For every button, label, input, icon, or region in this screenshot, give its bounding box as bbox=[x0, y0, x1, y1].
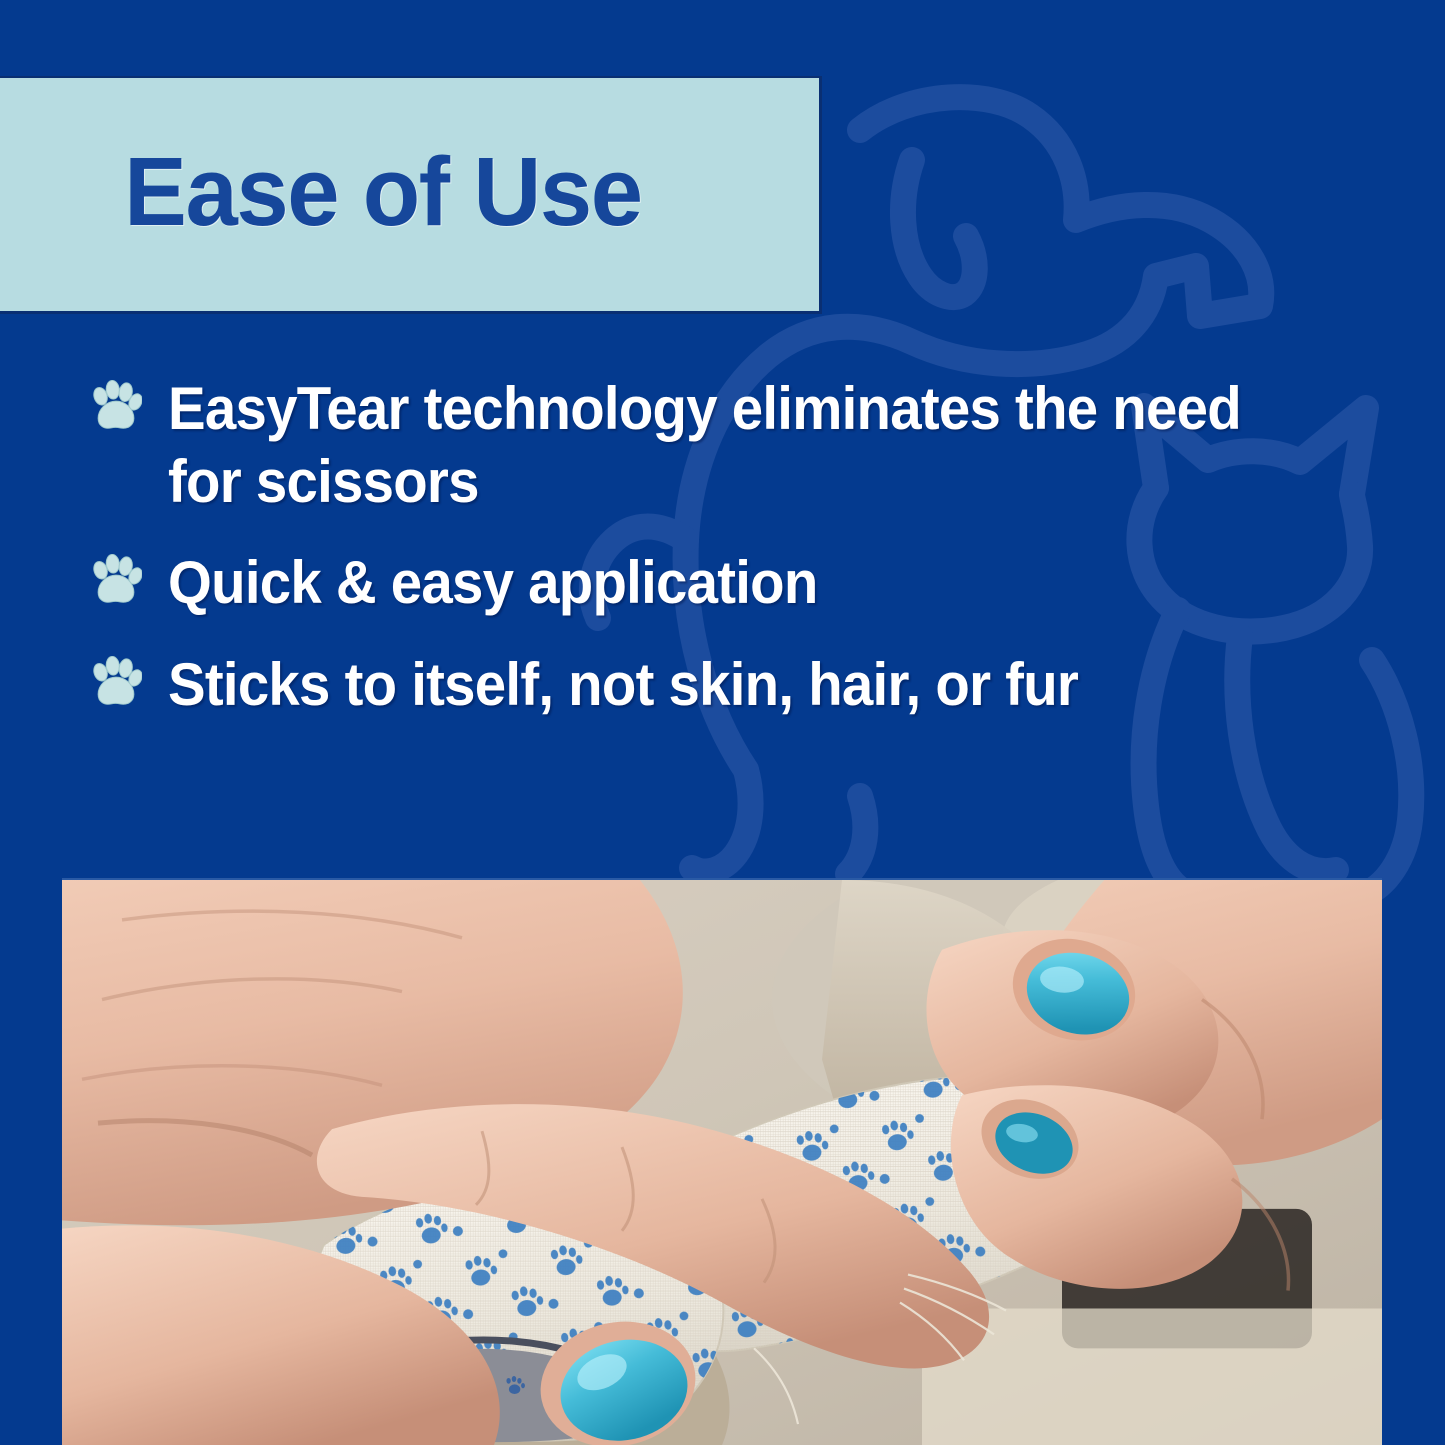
paw-print-icon bbox=[90, 380, 142, 432]
page-title: Ease of Use bbox=[0, 143, 642, 246]
feature-list: EasyTear technology eliminates the need … bbox=[90, 372, 1390, 749]
list-item-label: Sticks to itself, not skin, hair, or fur bbox=[168, 648, 1078, 721]
hands-tearing-paw-print-bandage-photo bbox=[62, 878, 1382, 1445]
infographic-canvas: Ease of Use EasyTear technology eliminat… bbox=[0, 0, 1445, 1445]
list-item: Quick & easy application bbox=[90, 546, 1390, 619]
list-item: Sticks to itself, not skin, hair, or fur bbox=[90, 648, 1390, 721]
header-banner: Ease of Use bbox=[0, 76, 822, 314]
paw-print-icon bbox=[90, 554, 142, 606]
list-item-label: Quick & easy application bbox=[168, 546, 818, 619]
paw-print-icon bbox=[90, 656, 142, 708]
list-item-label: EasyTear technology eliminates the need … bbox=[168, 372, 1317, 518]
list-item: EasyTear technology eliminates the need … bbox=[90, 372, 1390, 518]
